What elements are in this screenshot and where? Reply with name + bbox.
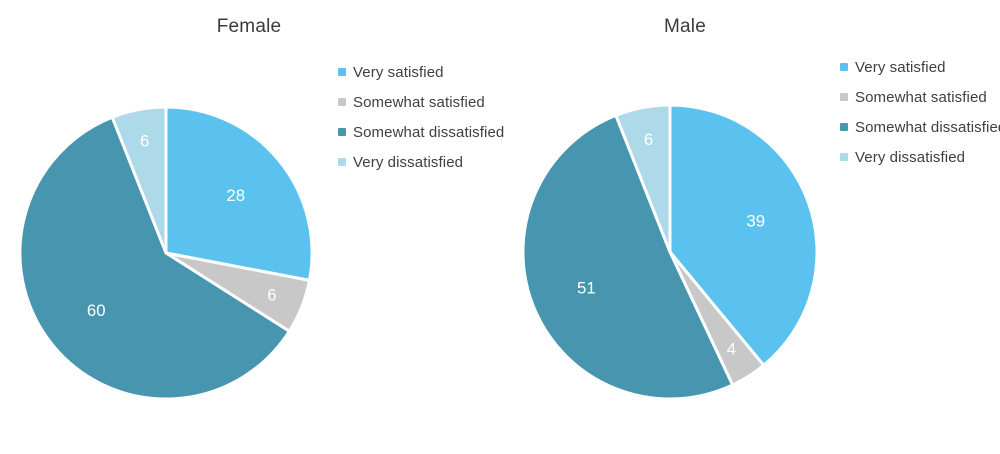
chart-panel-male: Male 394516 Very satisfied Somewhat sati… [500, 0, 1000, 454]
legend-item-somewhat-satisfied[interactable]: Somewhat satisfied [338, 92, 513, 113]
legend-swatch-very-satisfied [338, 68, 346, 76]
pie-slice-label: 6 [140, 132, 149, 151]
legend-item-somewhat-dissatisfied[interactable]: Somewhat dissatisfied [338, 122, 513, 143]
legend-item-very-dissatisfied[interactable]: Very dissatisfied [338, 152, 513, 173]
legend-label-somewhat-satisfied: Somewhat satisfied [855, 87, 987, 108]
legend-label-very-dissatisfied: Very dissatisfied [353, 152, 463, 173]
pie-chart-figure: Female 286606 Very satisfied Somewhat sa… [0, 0, 1000, 454]
chart-panel-female: Female 286606 Very satisfied Somewhat sa… [0, 0, 500, 454]
legend-label-very-satisfied: Very satisfied [855, 57, 946, 78]
page-title-male: Male [520, 16, 850, 38]
pie-male: 394516 [521, 103, 819, 401]
legend-label-somewhat-dissatisfied: Somewhat dissatisfied [353, 122, 504, 143]
legend-swatch-somewhat-satisfied [338, 98, 346, 106]
legend-label-very-dissatisfied: Very dissatisfied [855, 147, 965, 168]
legend-female: Very satisfied Somewhat satisfied Somewh… [338, 62, 513, 182]
pie-female: 286606 [18, 105, 314, 401]
legend-swatch-very-satisfied [840, 63, 848, 71]
legend-item-very-satisfied[interactable]: Very satisfied [840, 57, 1000, 78]
legend-item-somewhat-dissatisfied[interactable]: Somewhat dissatisfied [840, 117, 1000, 138]
legend-label-somewhat-dissatisfied: Somewhat dissatisfied [855, 117, 1000, 138]
legend-item-very-dissatisfied[interactable]: Very dissatisfied [840, 147, 1000, 168]
legend-swatch-very-dissatisfied [840, 153, 848, 161]
pie-slice-label: 6 [644, 130, 653, 149]
legend-swatch-somewhat-satisfied [840, 93, 848, 101]
legend-swatch-very-dissatisfied [338, 158, 346, 166]
legend-item-very-satisfied[interactable]: Very satisfied [338, 62, 513, 83]
pie-slice-label: 4 [727, 339, 736, 358]
pie-slice-label: 28 [226, 186, 245, 205]
pie-female-svg: 286606 [18, 105, 314, 401]
pie-male-svg: 394516 [521, 103, 819, 401]
legend-swatch-somewhat-dissatisfied [338, 128, 346, 136]
pie-slice-label: 39 [746, 212, 765, 231]
pie-slice-label: 51 [577, 279, 596, 298]
pie-male-slices [523, 105, 817, 399]
legend-label-somewhat-satisfied: Somewhat satisfied [353, 92, 485, 113]
legend-swatch-somewhat-dissatisfied [840, 123, 848, 131]
pie-slice-label: 60 [87, 301, 106, 320]
legend-label-very-satisfied: Very satisfied [353, 62, 444, 83]
legend-item-somewhat-satisfied[interactable]: Somewhat satisfied [840, 87, 1000, 108]
pie-slice-label: 6 [267, 285, 276, 304]
pie-female-slices [20, 107, 312, 399]
page-title-female: Female [84, 16, 414, 38]
legend-male: Very satisfied Somewhat satisfied Somewh… [840, 57, 1000, 177]
